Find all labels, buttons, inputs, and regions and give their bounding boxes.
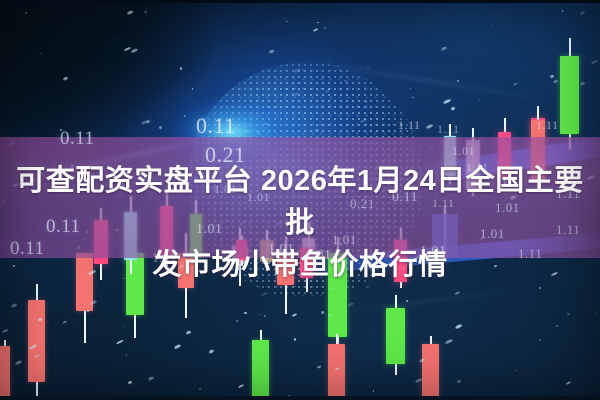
title-line-2: 发市场小带鱼价格行情 [0,244,600,286]
price-label: 0.11 [196,113,236,139]
price-label: 1.01 [452,144,475,159]
price-label: 1.11 [437,122,460,137]
top-edge [0,0,600,3]
bottom-edge [0,396,600,400]
price-banner: 0.110.110.211.011.011.010.110.111.010.21… [0,0,600,400]
page-title: 可查配资实盘平台 2026年1月24日全国主要批 发市场小带鱼价格行情 [0,160,600,286]
price-label: 1.11 [536,118,559,133]
price-label: 0.11 [60,128,95,150]
title-line-1: 可查配资实盘平台 2026年1月24日全国主要批 [0,160,600,244]
price-label: 1.11 [398,118,421,133]
